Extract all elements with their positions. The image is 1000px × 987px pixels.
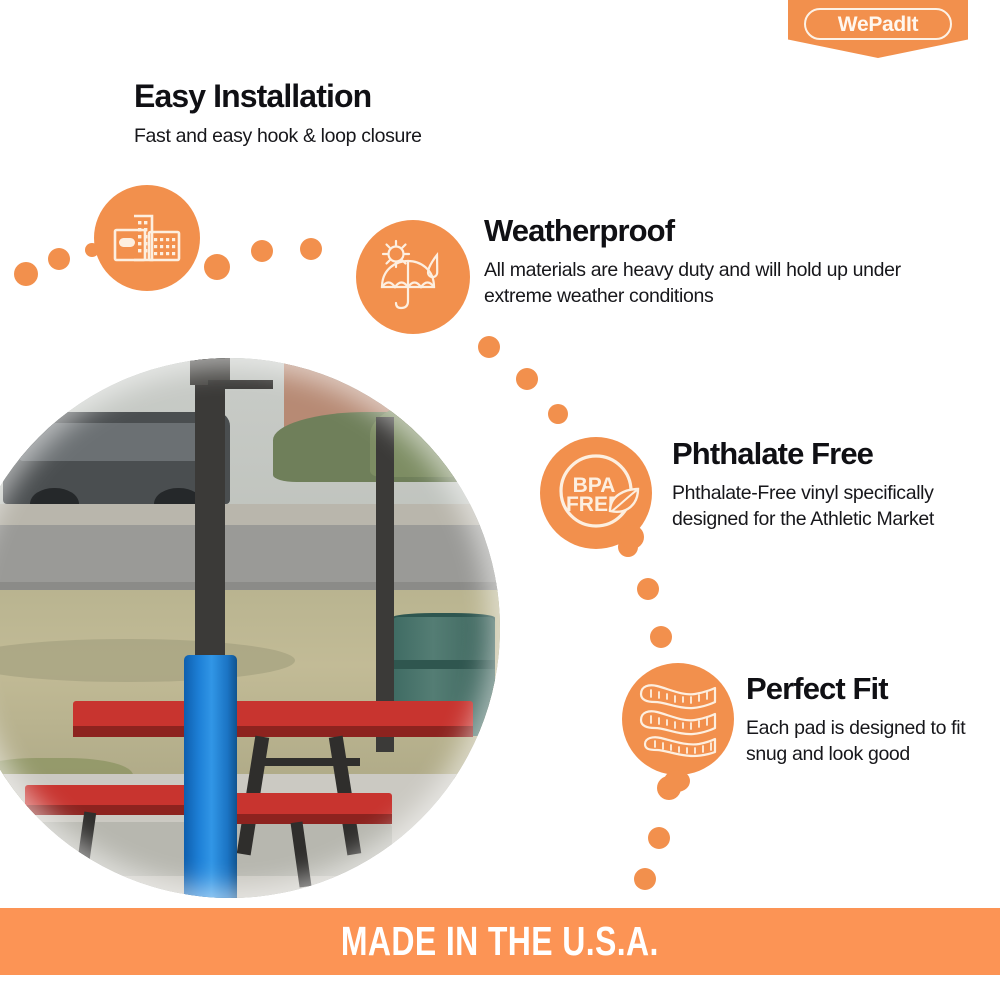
trail-dot xyxy=(634,868,656,890)
brand-logo-text: WePadIt xyxy=(838,14,918,35)
photo-blue-pole-pad xyxy=(184,655,237,898)
made-in-usa-text: MADE IN THE U.S.A. xyxy=(341,918,659,965)
trail-dot xyxy=(548,404,568,424)
photo-trash-barrel-band xyxy=(392,660,495,669)
feature-icon-weatherproof xyxy=(356,220,470,334)
trail-dot xyxy=(14,262,38,286)
photo-curb xyxy=(0,504,500,526)
trail-dot xyxy=(650,626,672,648)
trail-dot xyxy=(300,238,322,260)
feature-description-weatherproof: All materials are heavy duty and will ho… xyxy=(484,258,904,309)
trail-dot xyxy=(516,368,538,390)
photo-road xyxy=(0,525,500,584)
feature-description-easy-installation: Fast and easy hook & loop closure xyxy=(134,124,554,150)
photo-picnic-table-top xyxy=(73,701,473,729)
trail-dot xyxy=(48,248,70,270)
photo-bench-right-edge xyxy=(230,814,392,824)
trail-dot xyxy=(648,827,670,849)
photo-suv-window xyxy=(19,423,203,461)
made-in-usa-banner: MADE IN THE U.S.A. xyxy=(0,908,1000,975)
photo-table-crossbar xyxy=(252,758,360,767)
photo-picnic-table-edge xyxy=(73,726,473,737)
feature-title-perfect-fit: Perfect Fit xyxy=(746,673,888,706)
logo-text-it: It xyxy=(906,13,918,36)
feature-icon-easy-installation xyxy=(94,185,200,291)
trail-dot xyxy=(478,336,500,358)
feature-title-weatherproof: Weatherproof xyxy=(484,215,674,248)
trail-dot xyxy=(204,254,230,280)
logo-text-we: We xyxy=(838,13,869,36)
brand-logo-outline: WePadIt xyxy=(804,8,952,40)
feature-title-phthalate-free: Phthalate Free xyxy=(672,438,873,471)
feature-title-easy-installation: Easy Installation xyxy=(134,80,371,114)
logo-text-pad: Pad xyxy=(868,13,906,36)
trail-dot xyxy=(251,240,273,262)
product-photo xyxy=(0,358,500,898)
trail-dot xyxy=(637,578,659,600)
perfect-fit-accent-dot xyxy=(664,770,690,792)
feature-icon-perfect-fit xyxy=(622,663,734,775)
bpa-icon-accent-dot xyxy=(620,525,644,549)
photo-bench-right xyxy=(230,793,392,817)
product-feature-infographic: WePadIt xyxy=(0,0,1000,987)
feature-description-perfect-fit: Each pad is designed to fit snug and loo… xyxy=(746,716,976,767)
photo-post-arm xyxy=(208,380,273,390)
feature-description-phthalate-free: Phthalate-Free vinyl specifically design… xyxy=(672,481,942,532)
photo-support-post-main xyxy=(195,358,225,693)
